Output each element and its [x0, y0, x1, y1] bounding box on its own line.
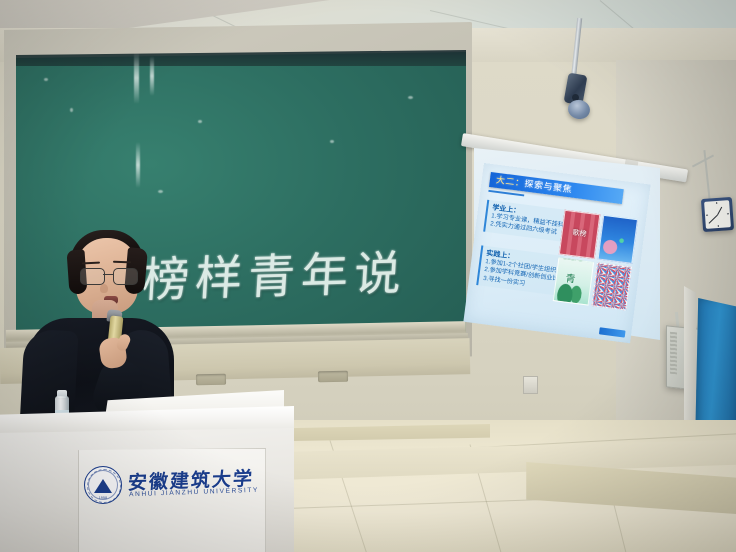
chalkboard-handwriting: 榜样青年说 — [140, 239, 394, 318]
cabinet-vent — [670, 332, 677, 375]
presenter-nose — [100, 284, 108, 293]
slide-title-main: 探索与聚焦 — [524, 178, 573, 194]
presentation-slide: 大二：探索与聚焦 学业上： 1.学习专业课，精益不挂科 2.凭实力通过四六级考试… — [463, 163, 650, 343]
wall-junction-box — [523, 376, 538, 394]
chalk-tray-handle[interactable] — [196, 374, 226, 386]
blackboard-top-shadow — [16, 50, 466, 66]
presenter-glasses — [80, 268, 136, 283]
clock-face — [704, 200, 731, 229]
chalk-smudge — [44, 78, 48, 81]
slide-text-block-practice: 实践上： 1.参加1-2个社团/学生组织 2.参加学科竞赛/创新创业比赛 3.寻… — [476, 245, 564, 296]
slide-photo-grid: 歌榜 青 — [553, 210, 638, 311]
chalk-smudge — [408, 96, 413, 99]
glasses-lens — [113, 268, 138, 285]
chalk-tray-handle[interactable] — [318, 371, 348, 383]
slide-text-block-academics: 学业上： 1.学习专业课，精益不挂科 2.凭实力通过四六级考试 — [483, 200, 566, 242]
seal-triangle — [94, 479, 112, 493]
chalk-smudge — [198, 120, 202, 123]
classroom-photo: 榜样青年说 大二：探索与聚焦 学业上： 1.学习专业课，精益不挂科 2.凭实力通… — [0, 0, 736, 552]
slide-photo-caption: 青 — [565, 269, 577, 285]
clock-tick — [706, 215, 708, 216]
university-seal-icon: 1958 — [84, 466, 122, 504]
chalk-smudge — [158, 190, 163, 193]
clock-minute-hand — [709, 215, 718, 224]
chalk-smudge — [150, 56, 154, 96]
glasses-lens — [80, 268, 105, 285]
slide-photo — [597, 215, 638, 264]
chalk-smudge — [134, 52, 139, 104]
slide-photo: 青 — [553, 257, 594, 306]
slide-photo-caption: 歌榜 — [572, 230, 587, 239]
clock-tick — [727, 213, 729, 214]
glasses-bridge — [103, 274, 113, 275]
slide-title-prefix: 大二： — [495, 175, 525, 189]
slide-corner-badge — [599, 327, 626, 337]
slide-photo: 歌榜 — [559, 210, 600, 259]
chalk-smudge — [70, 108, 73, 112]
seal-year: 1958 — [99, 496, 107, 500]
wall-clock — [701, 197, 734, 232]
clock-tick — [718, 225, 719, 227]
clock-hour-hand — [717, 207, 722, 216]
slide-photo — [591, 262, 632, 311]
chalk-smudge — [330, 140, 334, 143]
chalk-smudge — [136, 142, 140, 188]
clock-tick — [716, 202, 717, 204]
